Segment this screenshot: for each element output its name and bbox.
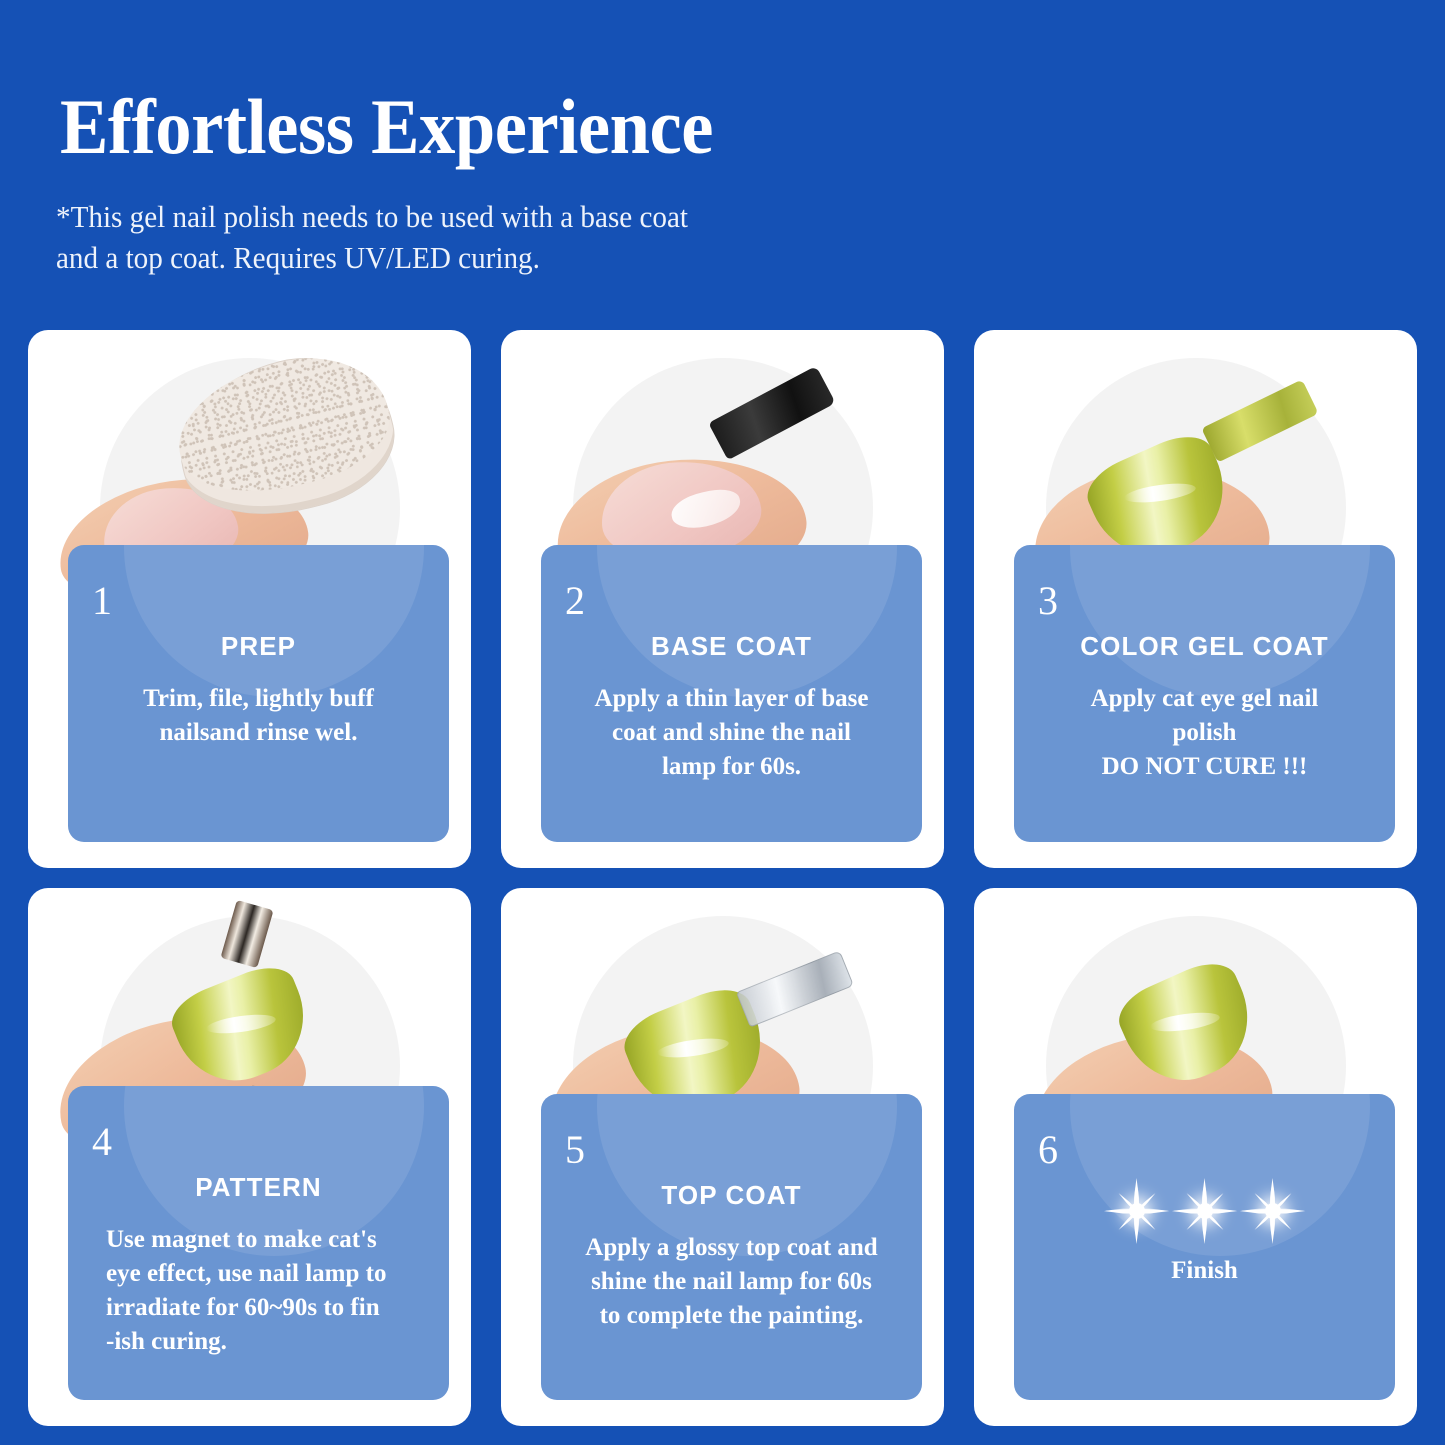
step-number: 6: [1038, 1130, 1058, 1170]
sparkle-group: [1030, 1174, 1379, 1248]
step-number: 4: [92, 1122, 112, 1162]
page-subtitle: *This gel nail polish needs to be used w…: [56, 196, 688, 278]
page-title: Effortless Experience: [60, 86, 713, 168]
step-panel-3: 3 COLOR GEL COAT Apply cat eye gel nail …: [1014, 545, 1395, 842]
steps-grid: 1 PREP Trim, file, lightly buff nailsand…: [28, 330, 1417, 1426]
step-description: Apply cat eye gel nail polish DO NOT CUR…: [1030, 682, 1379, 784]
step-card-1[interactable]: 1 PREP Trim, file, lightly buff nailsand…: [28, 330, 471, 868]
step-description: Trim, file, lightly buff nailsand rinse …: [84, 682, 433, 750]
step-description: Use magnet to make cat's eye effect, use…: [84, 1223, 433, 1359]
step-card-5[interactable]: 5 TOP COAT Apply a glossy top coat and s…: [501, 888, 944, 1426]
step-heading: PATTERN: [84, 1172, 433, 1203]
step-heading: PREP: [84, 631, 433, 662]
sparkle-icon: [1172, 1178, 1238, 1244]
step-card-6[interactable]: 6 Finish: [974, 888, 1417, 1426]
step-number: 5: [565, 1130, 585, 1170]
step-panel-4: 4 PATTERN Use magnet to make cat's eye e…: [68, 1086, 449, 1400]
step-card-2[interactable]: 2 BASE COAT Apply a thin layer of base c…: [501, 330, 944, 868]
sparkle-icon: [1240, 1178, 1306, 1244]
step-card-3[interactable]: 3 COLOR GEL COAT Apply cat eye gel nail …: [974, 330, 1417, 868]
step-heading: TOP COAT: [557, 1180, 906, 1211]
step-card-4[interactable]: 4 PATTERN Use magnet to make cat's eye e…: [28, 888, 471, 1426]
step-number: 1: [92, 581, 112, 621]
step-number: 3: [1038, 581, 1058, 621]
step-description: Apply a glossy top coat and shine the na…: [557, 1231, 906, 1333]
step-description: Finish: [1030, 1254, 1379, 1288]
step-heading: BASE COAT: [557, 631, 906, 662]
step-panel-5: 5 TOP COAT Apply a glossy top coat and s…: [541, 1094, 922, 1400]
step-panel-2: 2 BASE COAT Apply a thin layer of base c…: [541, 545, 922, 842]
step-heading: COLOR GEL COAT: [1030, 631, 1379, 662]
step-number: 2: [565, 581, 585, 621]
step-panel-1: 1 PREP Trim, file, lightly buff nailsand…: [68, 545, 449, 842]
step-panel-6: 6 Finish: [1014, 1094, 1395, 1400]
sparkle-icon: [1104, 1178, 1170, 1244]
step-description: Apply a thin layer of base coat and shin…: [557, 682, 906, 784]
